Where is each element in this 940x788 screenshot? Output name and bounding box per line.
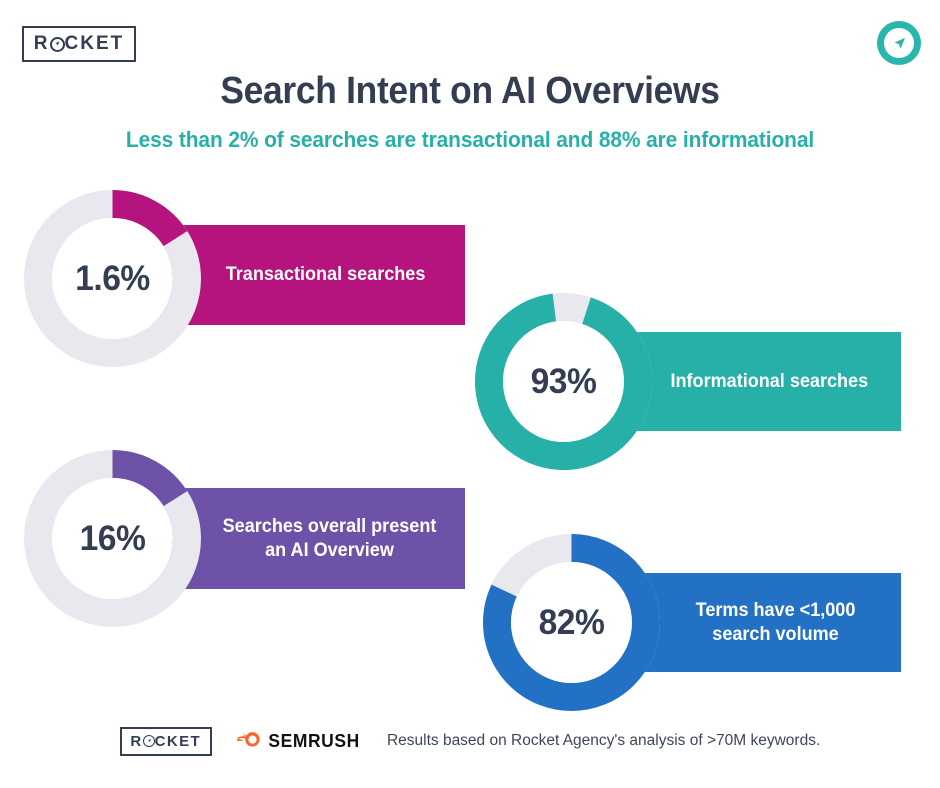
donut-value-transactional: 1.6% — [28, 190, 198, 367]
donut-value-ai-overview: 16% — [28, 450, 198, 627]
semrush-logo: SEMRUSH — [236, 730, 361, 752]
page-subtitle: Less than 2% of searches are transaction… — [24, 127, 917, 153]
rocket-logo-footer-compass-o-icon — [143, 735, 155, 747]
donut-search-volume: 82% — [483, 534, 660, 711]
rocket-logo-footer: RCKET — [120, 727, 212, 756]
rocket-logo-text: RCKET — [34, 33, 124, 55]
compass-needle-icon — [145, 738, 152, 745]
semrush-comet-icon — [236, 730, 262, 752]
navigation-badge — [877, 21, 921, 65]
navigation-arrow-icon — [891, 35, 908, 52]
compass-needle-icon — [53, 40, 62, 49]
navigation-badge-inner — [884, 28, 914, 58]
footer-note: Results based on Rocket Agency's analysi… — [387, 732, 820, 750]
footer: RCKET SEMRUSH Results based on Rocket Ag… — [0, 714, 940, 768]
donut-informational: 93% — [475, 293, 652, 470]
rocket-logo-text-post: CKET — [65, 33, 125, 55]
donut-value-informational: 93% — [479, 293, 649, 470]
stat-label-transactional: Transactional searches — [226, 263, 444, 286]
donut-transactional: 1.6% — [24, 190, 201, 367]
page-title: Search Intent on AI Overviews — [33, 70, 907, 113]
rocket-logo-footer-post: CKET — [155, 733, 201, 750]
semrush-wordmark: SEMRUSH — [268, 731, 359, 752]
stat-label-informational: Informational searches — [671, 370, 880, 393]
stat-label-ai-overview: Searches overall present an AI Overview — [216, 515, 443, 561]
rocket-logo-footer-pre: R — [130, 733, 142, 750]
rocket-logo-compass-o-icon — [50, 37, 65, 52]
rocket-logo-text-pre: R — [34, 33, 50, 55]
stat-label-search-volume: Terms have <1,000 search volume — [671, 599, 879, 645]
rocket-logo-header: RCKET — [22, 26, 136, 62]
rocket-logo-footer-text: RCKET — [130, 733, 201, 750]
donut-ai-overview: 16% — [24, 450, 201, 627]
infographic-canvas: RCKET Search Intent on AI Overviews Less… — [0, 0, 940, 788]
donut-value-search-volume: 82% — [487, 534, 657, 711]
